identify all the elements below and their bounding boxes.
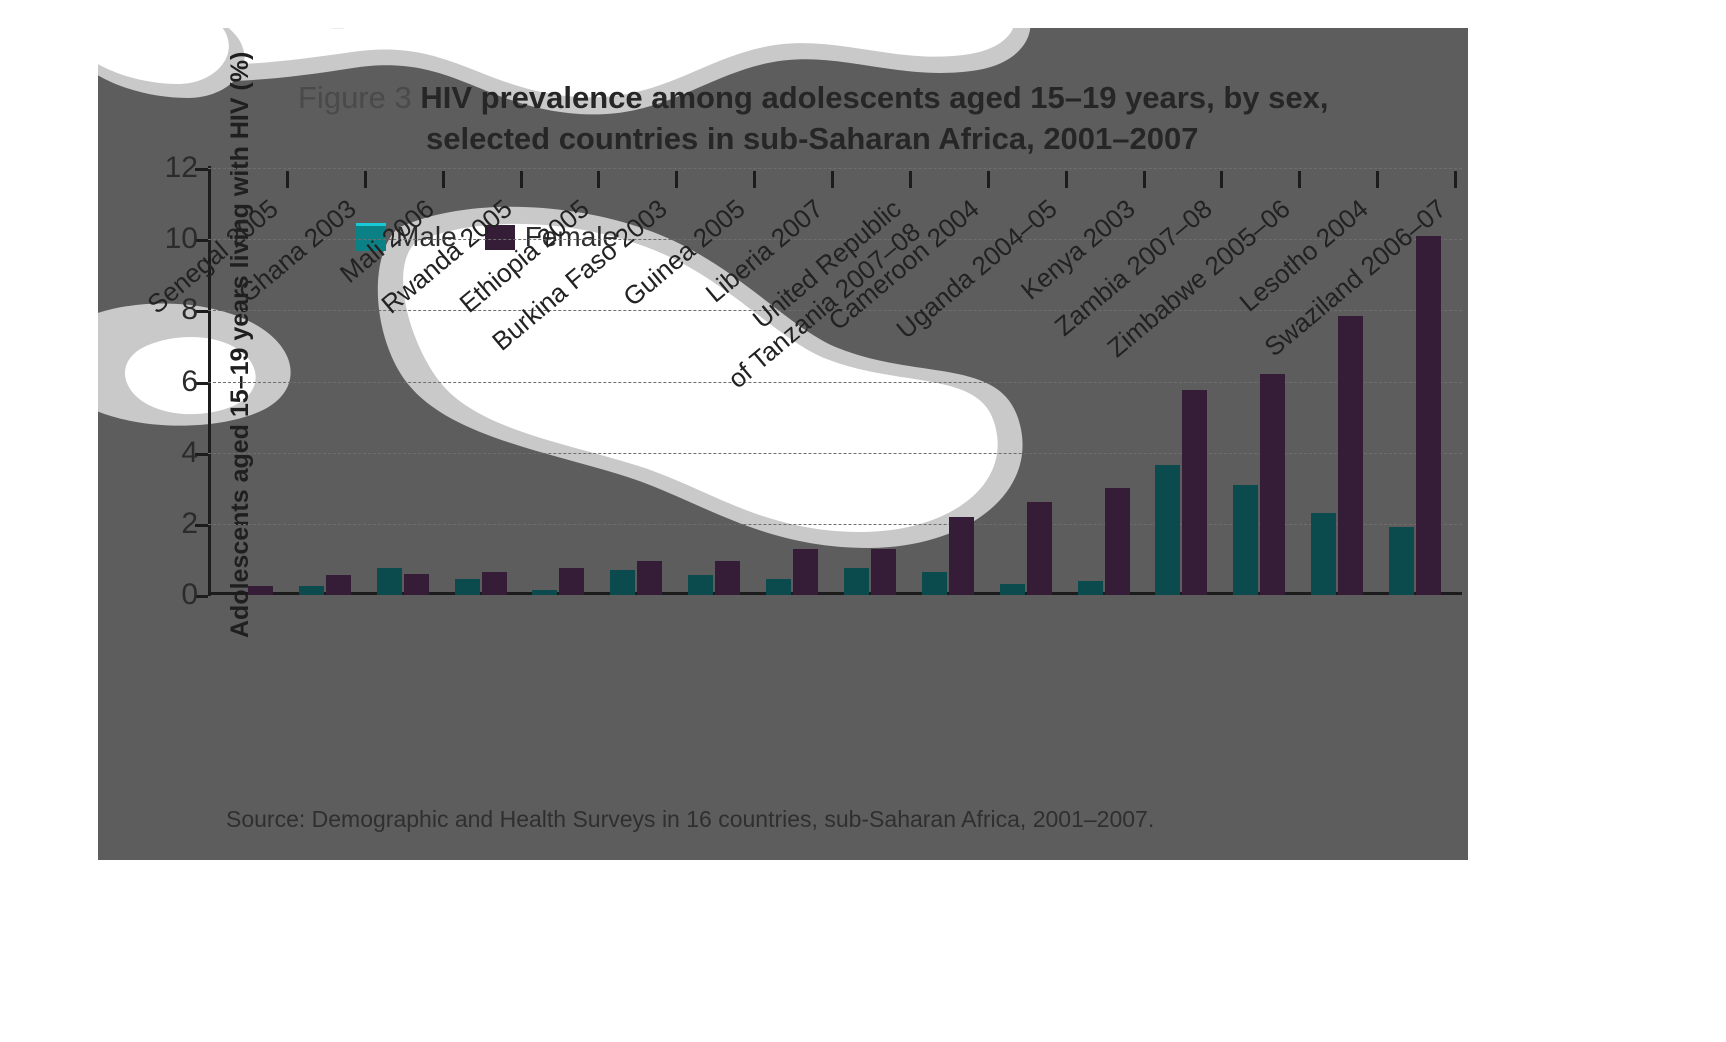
bar-male (688, 575, 713, 595)
x-tick-mark (753, 171, 756, 188)
bar-female (559, 568, 584, 595)
figure-panel: Figure 3 HIV prevalence among adolescent… (98, 28, 1468, 860)
figure-title-line-2: selected countries in sub-Saharan Africa… (298, 119, 1408, 160)
bar-female (637, 561, 662, 595)
x-tick-mark (831, 171, 834, 188)
figure-number: Figure 3 (298, 80, 412, 115)
x-tick-mark (520, 171, 523, 188)
x-tick-mark (1376, 171, 1379, 188)
bar-female (482, 572, 507, 595)
bar-male (766, 579, 791, 595)
bar-female (1338, 316, 1363, 595)
bar-male (1155, 465, 1180, 595)
x-tick-mark (909, 171, 912, 188)
bar-female (1260, 374, 1285, 595)
bar-female (1027, 502, 1052, 595)
x-tick-mark (208, 171, 211, 188)
plot-area: 024681012 Senegal 2005Ghana 2003Mali 200… (208, 168, 1454, 595)
bar-female (1416, 236, 1441, 595)
y-tick-label: 4 (181, 436, 198, 470)
figure-title-line-1: HIV prevalence among adolescents aged 15… (420, 80, 1328, 115)
x-tick-label: Senegal 2005 (142, 194, 284, 320)
bar-female (1182, 390, 1207, 595)
bar-male (455, 579, 480, 595)
x-tick-mark (1065, 171, 1068, 188)
x-tick-mark (442, 171, 445, 188)
y-tick-label: 12 (165, 151, 198, 185)
y-tick-label: 2 (181, 507, 198, 541)
source-note: Source: Demographic and Health Surveys i… (226, 806, 1154, 833)
bar-male (1389, 527, 1414, 595)
bar-male (1078, 581, 1103, 595)
x-tick-mark (987, 171, 990, 188)
x-tick-mark (364, 171, 367, 188)
bar-male (299, 586, 324, 595)
bar-female (949, 517, 974, 595)
x-tick-mark (1220, 171, 1223, 188)
bar-male (610, 570, 635, 595)
bar-male (1000, 584, 1025, 595)
x-tick-mark (1454, 171, 1457, 188)
bar-male (1311, 513, 1336, 595)
y-tick-label: 0 (181, 578, 198, 612)
y-tick-label: 10 (165, 222, 198, 256)
bar-male (844, 568, 869, 595)
gridline (208, 168, 1462, 169)
x-tick-mark (597, 171, 600, 188)
x-tick-mark (1143, 171, 1146, 188)
page-title: Figure 3 HIV prevalence among adolescent… (298, 78, 1408, 160)
y-tick-label: 6 (181, 365, 198, 399)
x-tick-mark (286, 171, 289, 188)
bar-female (404, 574, 429, 595)
x-tick-label-line: Senegal 2005 (142, 194, 284, 320)
bar-male (532, 590, 557, 595)
bar-female (1105, 488, 1130, 595)
bar-male (377, 568, 402, 595)
bar-male (1233, 485, 1258, 595)
bar-male (922, 572, 947, 595)
x-tick-mark (1298, 171, 1301, 188)
bar-female (248, 586, 273, 595)
bar-female (715, 561, 740, 595)
bar-female (326, 575, 351, 595)
bar-female (793, 549, 818, 595)
bar-female (871, 549, 896, 595)
x-tick-mark (675, 171, 678, 188)
